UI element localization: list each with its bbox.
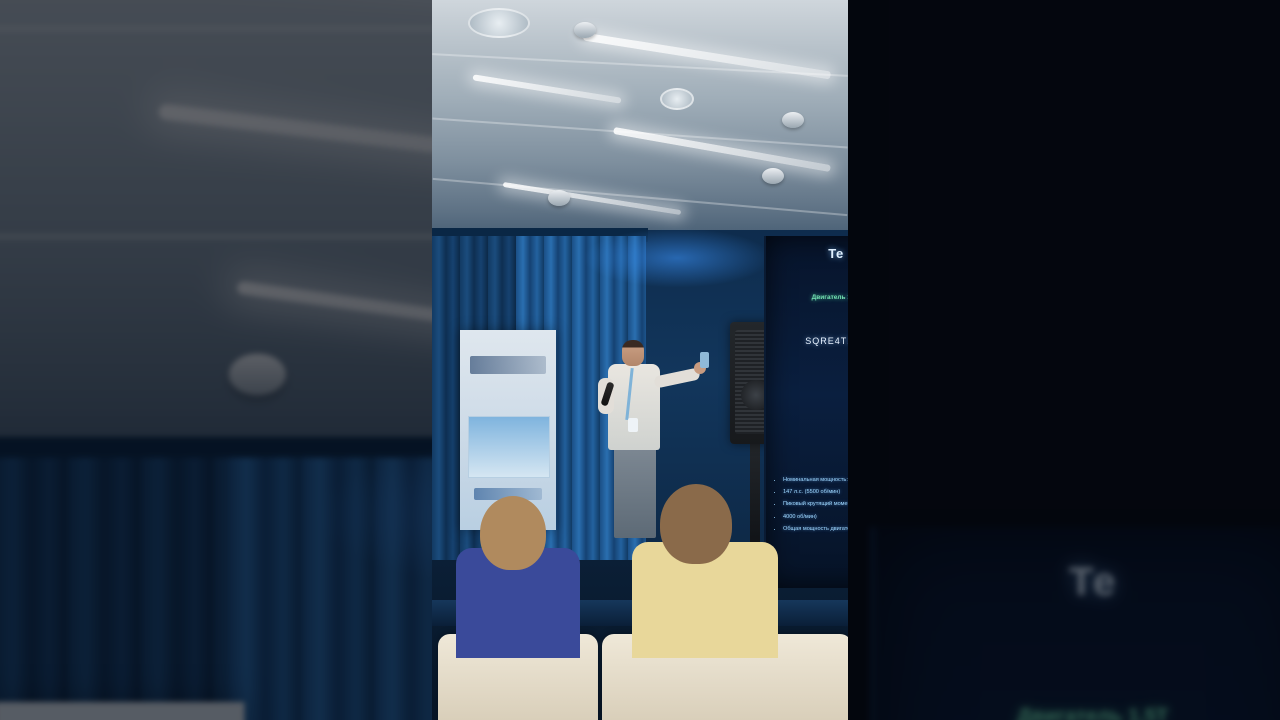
audience-member-blue-head (480, 496, 546, 570)
presenter-torso (608, 364, 660, 450)
presenter-legs (614, 446, 656, 538)
ceiling-speaker-icon (762, 168, 784, 184)
centre-video-frame: Те Двигатель 1.5T SQRE4T15C Номинальная … (432, 0, 848, 720)
right-blurred-panel: Те Двигатель 1.5T SQRE4T15C Номинальная … (848, 0, 1280, 720)
scene-root: Те Двигатель 1.5T SQRE4T15C Номинальная … (432, 0, 848, 720)
bullet-item: Общая мощность двигателя (783, 525, 848, 534)
left-blurred-panel (0, 0, 432, 720)
chery-logo (470, 356, 546, 374)
ceiling-vent-icon (660, 88, 694, 110)
ceiling-speaker-icon (782, 112, 804, 128)
presenter-head (622, 340, 644, 366)
ceiling-light-strip (472, 74, 621, 103)
bullet-item: Пиковый крутящий момент: 210 Н·м (783, 500, 848, 509)
badge (628, 418, 638, 432)
ceiling-speaker-icon (574, 22, 596, 38)
presentation-screen: Те Двигатель 1.5T SQRE4T15C Номинальная … (764, 236, 848, 588)
slide-bullets: Номинальная мощность: 147 л.с. (5500 об/… (774, 476, 848, 537)
bullet-item: 147 л.с. (5500 об/мин) (783, 488, 848, 497)
slide-subtitle: Двигатель 1.5T (766, 294, 848, 301)
smartphone-icon (700, 352, 709, 368)
slide-header: Те (766, 246, 848, 261)
ceiling-speaker-icon (548, 190, 570, 206)
stage-blue-wash (582, 228, 772, 288)
audience-member-yellow-head (660, 484, 732, 564)
left-panel-scrim (0, 0, 432, 720)
bullet-item: Номинальная мощность: (783, 476, 848, 485)
ceiling-light-strip (583, 32, 831, 79)
ceiling-light-strip (613, 127, 831, 172)
ceiling-vent-icon (468, 8, 530, 38)
ceiling-panels (432, 0, 848, 250)
engine-photo (790, 358, 848, 458)
banner-photo (468, 416, 550, 478)
bullet-item: 4000 об/мин) (783, 513, 848, 522)
screenshot-canvas: Те Двигатель 1.5T SQRE4T15C Номинальная … (0, 0, 1280, 720)
right-panel-scrim (848, 0, 1280, 720)
engine-code: SQRE4T15C (766, 336, 848, 346)
